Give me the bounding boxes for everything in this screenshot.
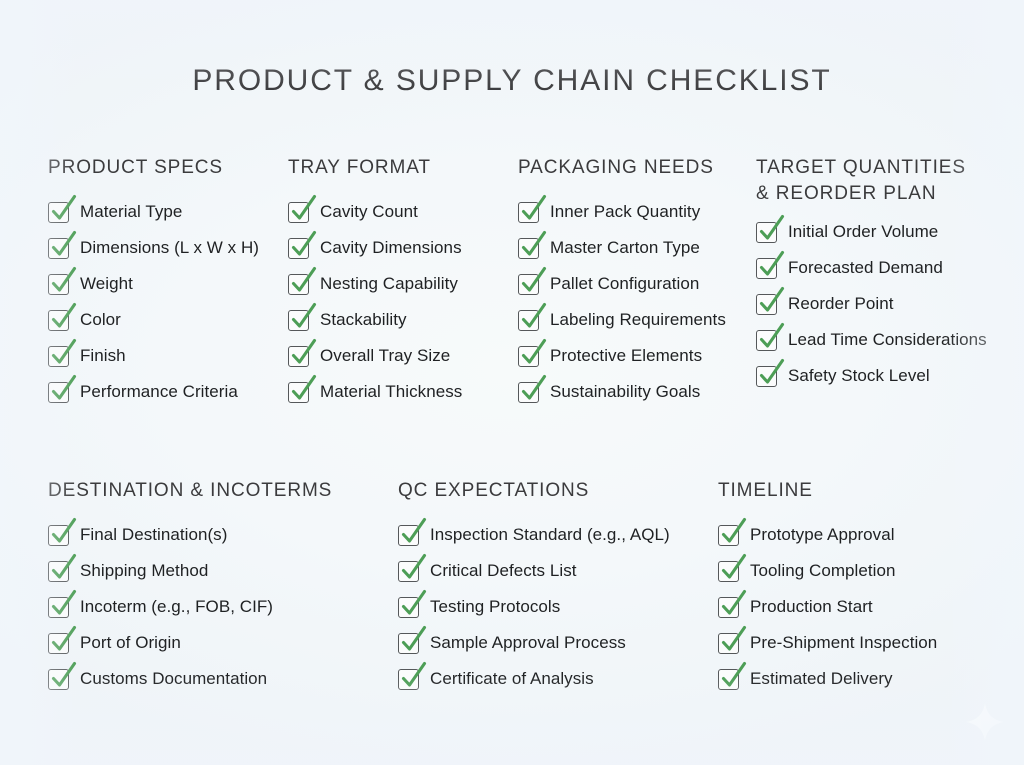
checked-checkbox-icon[interactable]	[48, 382, 69, 403]
checklist-column: DESTINATION & INCOTERMSFinal Destination…	[48, 478, 398, 704]
checked-checkbox-icon[interactable]	[718, 597, 739, 618]
page-title: PRODUCT & SUPPLY CHAIN CHECKLIST	[0, 64, 1024, 98]
checklist-page: PRODUCT & SUPPLY CHAIN CHECKLIST PRODUCT…	[0, 0, 1024, 765]
checklist-item[interactable]: Pre-Shipment Inspection	[718, 632, 1008, 654]
checklist-item-label: Color	[80, 309, 121, 331]
checklist-item[interactable]: Port of Origin	[48, 632, 398, 654]
checklist-item-label: Sample Approval Process	[430, 632, 626, 654]
checklist-item-label: Port of Origin	[80, 632, 181, 654]
checklist-item-label: Testing Protocols	[430, 596, 560, 618]
checked-checkbox-icon[interactable]	[288, 310, 309, 331]
checked-checkbox-icon[interactable]	[48, 597, 69, 618]
checklist-item-label: Estimated Delivery	[750, 668, 893, 690]
checklist-item-label: Customs Documentation	[80, 668, 267, 690]
checklist-items: Material TypeDimensions (L x W x H)Weigh…	[48, 201, 288, 417]
checked-checkbox-icon[interactable]	[48, 525, 69, 546]
checklist-item-label: Cavity Count	[320, 201, 418, 223]
four-point-star-watermark	[964, 701, 1006, 743]
checked-checkbox-icon[interactable]	[398, 525, 419, 546]
column-heading: DESTINATION & INCOTERMS	[48, 478, 398, 504]
checklist-item[interactable]: Prototype Approval	[718, 524, 1008, 546]
checked-checkbox-icon[interactable]	[288, 274, 309, 295]
checklist-item[interactable]: Sustainability Goals	[518, 381, 756, 403]
checklist-bottom-row: DESTINATION & INCOTERMSFinal Destination…	[48, 478, 1008, 704]
checklist-item-label: Material Thickness	[320, 381, 462, 403]
checklist-column: TARGET QUANTITIES & REORDER PLANInitial …	[756, 155, 1008, 417]
checklist-item[interactable]: Dimensions (L x W x H)	[48, 237, 288, 259]
checklist-item[interactable]: Testing Protocols	[398, 596, 718, 618]
checklist-item[interactable]: Protective Elements	[518, 345, 756, 367]
checked-checkbox-icon[interactable]	[718, 633, 739, 654]
checked-checkbox-icon[interactable]	[756, 258, 777, 279]
checklist-items: Prototype ApprovalTooling CompletionProd…	[718, 524, 1008, 704]
checklist-item[interactable]: Finish	[48, 345, 288, 367]
checklist-item-label: Safety Stock Level	[788, 365, 930, 387]
checklist-item[interactable]: Master Carton Type	[518, 237, 756, 259]
checklist-item[interactable]: Performance Criteria	[48, 381, 288, 403]
checklist-item-label: Incoterm (e.g., FOB, CIF)	[80, 596, 273, 618]
checklist-item-label: Final Destination(s)	[80, 524, 227, 546]
checklist-item-label: Tooling Completion	[750, 560, 895, 582]
checklist-item-label: Shipping Method	[80, 560, 208, 582]
checklist-item[interactable]: Lead Time Considerations	[756, 329, 1008, 351]
checklist-item-label: Pallet Configuration	[550, 273, 699, 295]
checklist-top-row: PRODUCT SPECSMaterial TypeDimensions (L …	[48, 155, 1008, 417]
checked-checkbox-icon[interactable]	[518, 346, 539, 367]
checked-checkbox-icon[interactable]	[398, 669, 419, 690]
checklist-item-label: Stackability	[320, 309, 407, 331]
checked-checkbox-icon[interactable]	[756, 366, 777, 387]
checklist-item-label: Initial Order Volume	[788, 221, 938, 243]
checklist-item[interactable]: Pallet Configuration	[518, 273, 756, 295]
checklist-item[interactable]: Cavity Dimensions	[288, 237, 518, 259]
checklist-item[interactable]: Inner Pack Quantity	[518, 201, 756, 223]
checklist-item-label: Prototype Approval	[750, 524, 895, 546]
checked-checkbox-icon[interactable]	[398, 633, 419, 654]
checklist-item-label: Nesting Capability	[320, 273, 458, 295]
checklist-item-label: Performance Criteria	[80, 381, 238, 403]
checklist-items: Cavity CountCavity DimensionsNesting Cap…	[288, 201, 518, 417]
checklist-item[interactable]: Labeling Requirements	[518, 309, 756, 331]
checked-checkbox-icon[interactable]	[288, 238, 309, 259]
checked-checkbox-icon[interactable]	[48, 669, 69, 690]
checked-checkbox-icon[interactable]	[398, 597, 419, 618]
checked-checkbox-icon[interactable]	[398, 561, 419, 582]
checklist-item-label: Certificate of Analysis	[430, 668, 594, 690]
checked-checkbox-icon[interactable]	[48, 274, 69, 295]
checklist-item-label: Sustainability Goals	[550, 381, 700, 403]
column-heading: QC EXPECTATIONS	[398, 478, 718, 504]
checklist-items: Inspection Standard (e.g., AQL)Critical …	[398, 524, 718, 704]
checklist-item-label: Inner Pack Quantity	[550, 201, 700, 223]
checklist-item-label: Material Type	[80, 201, 182, 223]
checked-checkbox-icon[interactable]	[518, 310, 539, 331]
checklist-column: TRAY FORMATCavity CountCavity Dimensions…	[288, 155, 518, 417]
checklist-item-label: Lead Time Considerations	[788, 329, 987, 351]
checked-checkbox-icon[interactable]	[756, 222, 777, 243]
checklist-item-label: Overall Tray Size	[320, 345, 450, 367]
checked-checkbox-icon[interactable]	[48, 561, 69, 582]
checklist-item[interactable]: Critical Defects List	[398, 560, 718, 582]
checklist-item-label: Critical Defects List	[430, 560, 577, 582]
checklist-item[interactable]: Initial Order Volume	[756, 221, 1008, 243]
checklist-column: QC EXPECTATIONSInspection Standard (e.g.…	[398, 478, 718, 704]
checklist-item-label: Inspection Standard (e.g., AQL)	[430, 524, 670, 546]
checklist-item[interactable]: Customs Documentation	[48, 668, 398, 690]
checklist-item-label: Master Carton Type	[550, 237, 700, 259]
checklist-item[interactable]: Overall Tray Size	[288, 345, 518, 367]
checklist-item[interactable]: Nesting Capability	[288, 273, 518, 295]
column-heading: PACKAGING NEEDS	[518, 155, 756, 181]
checklist-item-label: Cavity Dimensions	[320, 237, 462, 259]
checklist-item[interactable]: Sample Approval Process	[398, 632, 718, 654]
checklist-items: Inner Pack QuantityMaster Carton TypePal…	[518, 201, 756, 417]
checklist-items: Initial Order VolumeForecasted DemandReo…	[756, 221, 1008, 401]
checklist-item-label: Protective Elements	[550, 345, 702, 367]
checklist-item-label: Dimensions (L x W x H)	[80, 237, 259, 259]
checked-checkbox-icon[interactable]	[756, 330, 777, 351]
checked-checkbox-icon[interactable]	[288, 382, 309, 403]
column-heading: TARGET QUANTITIES & REORDER PLAN	[756, 155, 1008, 207]
checked-checkbox-icon[interactable]	[48, 238, 69, 259]
checked-checkbox-icon[interactable]	[288, 202, 309, 223]
checklist-item[interactable]: Weight	[48, 273, 288, 295]
checked-checkbox-icon[interactable]	[518, 382, 539, 403]
checklist-item-label: Labeling Requirements	[550, 309, 726, 331]
checklist-item[interactable]: Incoterm (e.g., FOB, CIF)	[48, 596, 398, 618]
checklist-item-label: Weight	[80, 273, 133, 295]
checked-checkbox-icon[interactable]	[718, 525, 739, 546]
checked-checkbox-icon[interactable]	[48, 346, 69, 367]
checklist-item[interactable]: Forecasted Demand	[756, 257, 1008, 279]
checklist-item[interactable]: Inspection Standard (e.g., AQL)	[398, 524, 718, 546]
checked-checkbox-icon[interactable]	[518, 238, 539, 259]
checked-checkbox-icon[interactable]	[288, 346, 309, 367]
checklist-item[interactable]: Production Start	[718, 596, 1008, 618]
checked-checkbox-icon[interactable]	[718, 669, 739, 690]
checklist-item[interactable]: Safety Stock Level	[756, 365, 1008, 387]
checklist-item[interactable]: Material Thickness	[288, 381, 518, 403]
checked-checkbox-icon[interactable]	[718, 561, 739, 582]
checklist-item-label: Forecasted Demand	[788, 257, 943, 279]
checklist-item[interactable]: Reorder Point	[756, 293, 1008, 315]
checklist-item[interactable]: Tooling Completion	[718, 560, 1008, 582]
checklist-items: Final Destination(s)Shipping MethodIncot…	[48, 524, 398, 704]
checked-checkbox-icon[interactable]	[518, 202, 539, 223]
checked-checkbox-icon[interactable]	[48, 310, 69, 331]
column-heading: TIMELINE	[718, 478, 1008, 504]
checklist-column: PACKAGING NEEDSInner Pack QuantityMaster…	[518, 155, 756, 417]
column-heading: TRAY FORMAT	[288, 155, 518, 181]
checklist-item-label: Production Start	[750, 596, 873, 618]
checklist-item[interactable]: Shipping Method	[48, 560, 398, 582]
checked-checkbox-icon[interactable]	[48, 202, 69, 223]
checklist-item[interactable]: Final Destination(s)	[48, 524, 398, 546]
checklist-item[interactable]: Material Type	[48, 201, 288, 223]
checklist-item[interactable]: Stackability	[288, 309, 518, 331]
column-heading: PRODUCT SPECS	[48, 155, 288, 181]
checklist-item[interactable]: Estimated Delivery	[718, 668, 1008, 690]
checklist-item-label: Pre-Shipment Inspection	[750, 632, 937, 654]
checklist-column: PRODUCT SPECSMaterial TypeDimensions (L …	[48, 155, 288, 417]
checklist-item[interactable]: Color	[48, 309, 288, 331]
checked-checkbox-icon[interactable]	[756, 294, 777, 315]
checked-checkbox-icon[interactable]	[48, 633, 69, 654]
checklist-item-label: Reorder Point	[788, 293, 894, 315]
checklist-item[interactable]: Cavity Count	[288, 201, 518, 223]
checklist-item[interactable]: Certificate of Analysis	[398, 668, 718, 690]
checklist-column: TIMELINEPrototype ApprovalTooling Comple…	[718, 478, 1008, 704]
checklist-item-label: Finish	[80, 345, 126, 367]
checked-checkbox-icon[interactable]	[518, 274, 539, 295]
